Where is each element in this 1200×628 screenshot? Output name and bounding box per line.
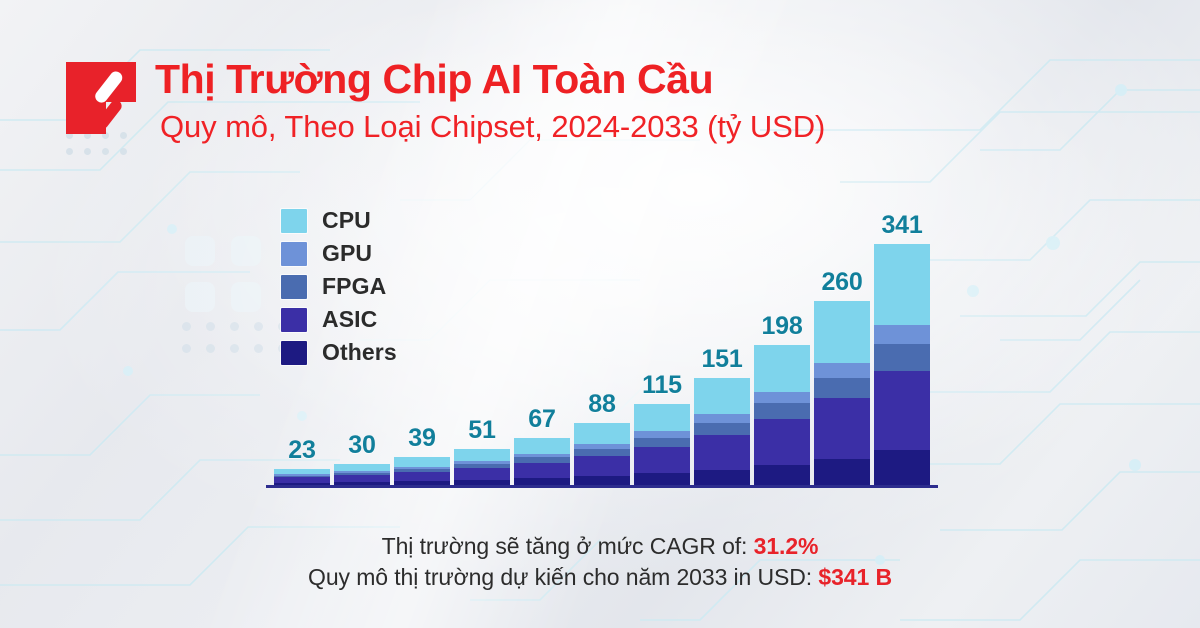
stacked-bar[interactable] [454,449,510,485]
bar-segment-others [694,470,750,485]
bar-slot[interactable]: 260 [812,180,872,485]
bar-segment-cpu [754,345,810,392]
stacked-bar-chart: 233039516788115151198260341 202320242025… [272,180,932,485]
bar-segment-cpu [814,301,870,363]
bar-segment-gpu [874,325,930,344]
bar-segment-asic [754,419,810,465]
bar-value-label: 198 [761,314,802,339]
bar-segment-asic [394,472,450,481]
chart-plot-area: 233039516788115151198260341 [272,180,932,485]
bar-segment-cpu [394,457,450,466]
bar-value-label: 341 [881,213,922,238]
bar-segment-others [754,465,810,485]
header: Thị Trường Chip AI Toàn Cầu Quy mô, Theo… [66,58,825,146]
bar-segment-cpu [694,378,750,414]
header-titles: Thị Trường Chip AI Toàn Cầu Quy mô, Theo… [155,58,825,146]
stacked-bar[interactable] [694,378,750,485]
bar-segment-cpu [574,423,630,444]
bar-slot[interactable]: 67 [512,180,572,485]
bar-value-label: 88 [588,392,615,417]
bar-segment-cpu [874,244,930,325]
bar-segment-others [574,476,630,485]
stacked-bar[interactable] [754,345,810,485]
bar-value-label: 51 [468,418,495,443]
bar-segment-others [874,450,930,484]
bar-segment-fpga [754,403,810,418]
bar-segment-cpu [454,449,510,461]
bar-segment-gpu [814,363,870,378]
bar-segment-gpu [754,392,810,403]
bar-value-label: 30 [348,433,375,458]
bar-segment-asic [634,447,690,474]
page-title: Thị Trường Chip AI Toàn Cầu [155,58,825,101]
bar-segment-asic [334,475,390,482]
bar-value-label: 260 [821,270,862,295]
footer-summary: Thị trường sẽ tăng ở mức CAGR of: 31.2% … [0,531,1200,592]
bar-segment-gpu [694,414,750,423]
bar-segment-cpu [334,464,390,471]
stacked-bar[interactable] [274,469,330,485]
bar-slot[interactable]: 151 [692,180,752,485]
infographic-canvas: Thị Trường Chip AI Toàn Cầu Quy mô, Theo… [0,0,1200,628]
bar-segment-cpu [634,404,690,431]
stacked-bar[interactable] [334,464,390,485]
bar-slot[interactable]: 88 [572,180,632,485]
bar-value-label: 67 [528,407,555,432]
brand-logo-icon [66,62,136,134]
stacked-bar[interactable] [574,423,630,485]
bar-segment-cpu [514,438,570,454]
bar-segment-asic [874,371,930,451]
bar-slot[interactable]: 341 [872,180,932,485]
stacked-bar[interactable] [874,244,930,485]
bar-slot[interactable]: 30 [332,180,392,485]
bar-segment-asic [514,463,570,479]
stacked-bar[interactable] [394,457,450,485]
footer-marketsize-text: Quy mô thị trường dự kiến cho năm 2033 i… [308,564,818,590]
bar-value-label: 23 [288,438,315,463]
bar-segment-others [634,473,690,485]
footer-marketsize-line: Quy mô thị trường dự kiến cho năm 2033 i… [0,562,1200,593]
footer-cagr-text: Thị trường sẽ tăng ở mức CAGR of: [382,533,754,559]
footer-cagr-value: 31.2% [754,533,819,559]
bar-segment-asic [454,468,510,480]
footer-marketsize-value: $341 B [818,564,892,590]
bar-segment-others [814,459,870,485]
bar-slot[interactable]: 198 [752,180,812,485]
bar-value-label: 39 [408,426,435,451]
bar-slot[interactable]: 23 [272,180,332,485]
page-subtitle: Quy mô, Theo Loại Chipset, 2024-2033 (tỷ… [160,109,825,146]
stacked-bar[interactable] [514,438,570,485]
bar-value-label: 151 [701,347,742,372]
bar-segment-fpga [814,378,870,398]
bar-segment-asic [574,456,630,476]
bar-slot[interactable]: 115 [632,180,692,485]
bar-segment-fpga [574,449,630,456]
bar-segment-others [514,478,570,485]
bar-segment-fpga [874,344,930,371]
bar-segment-fpga [694,423,750,435]
bar-slot[interactable]: 51 [452,180,512,485]
bar-segment-asic [814,398,870,459]
bar-segment-asic [694,435,750,470]
bar-slot[interactable]: 39 [392,180,452,485]
bar-segment-fpga [634,438,690,447]
bar-value-label: 115 [642,373,682,398]
stacked-bar[interactable] [634,404,690,485]
stacked-bar[interactable] [814,301,870,485]
chart-axis-line [266,485,938,488]
footer-cagr-line: Thị trường sẽ tăng ở mức CAGR of: 31.2% [0,531,1200,562]
